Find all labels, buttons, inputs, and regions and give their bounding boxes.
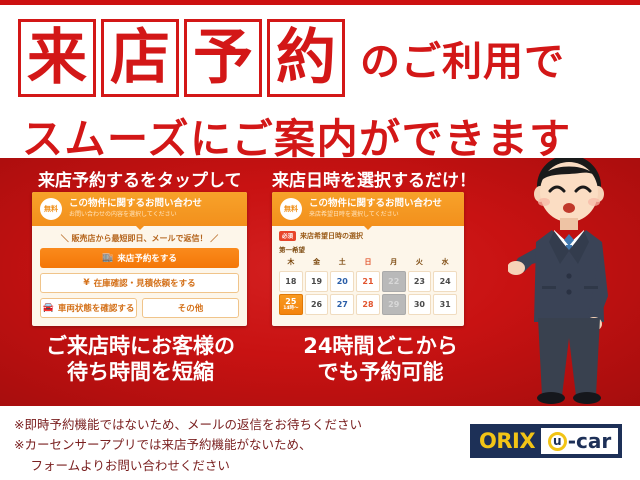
reserve-visit-button-label: 来店予約をする — [117, 252, 177, 264]
calendar-weekday-header: 月 — [382, 257, 406, 269]
vehicle-condition-button[interactable]: 🚘 車両状態を確認する — [40, 298, 137, 318]
calendar-day-cell: 29 — [382, 294, 406, 315]
calendar-day-number: 30 — [414, 300, 425, 309]
left-panel-title: 来店予約するをタップして — [38, 166, 242, 191]
calendar-day-number: 27 — [337, 300, 348, 309]
stock-quote-button-label: 在庫確認・見積依頼をする — [94, 277, 196, 289]
calendar-day-cell[interactable]: 18 — [279, 271, 303, 292]
headline-kanji-4: 約 — [276, 28, 336, 88]
calendar-day-number: 18 — [285, 277, 296, 286]
headline-kanji-box-2: 店 — [101, 19, 179, 97]
reserve-visit-button[interactable]: 🏬 来店予約をする — [40, 248, 239, 268]
calendar-weekday-header: 火 — [408, 257, 432, 269]
other-button-label: その他 — [178, 302, 204, 314]
calendar-day-number: 25 — [285, 297, 296, 306]
left-mock-button-list: 🏬 来店予約をする ¥ 在庫確認・見積依頼をする 🚘 車両状態を確認する その他 — [32, 248, 247, 325]
calendar-day-number: 22 — [388, 277, 399, 286]
calendar-day-number: 23 — [414, 277, 425, 286]
ucar-wordmark: u -car — [541, 428, 618, 454]
right-mock-header: 無料 この物件に関するお問い合わせ 来店希望日時を選択してください — [272, 192, 464, 226]
calendar-section-label: 来店希望日時の選択 — [300, 231, 363, 241]
left-caption: ご来店時にお客様の 待ち時間を短縮 — [18, 334, 263, 385]
u-letter: u — [553, 435, 562, 447]
headline-line-2: スムーズにご案内ができます — [22, 105, 622, 165]
left-mock-header: 無料 この物件に関するお問い合わせ お問い合わせの内容を選択してください — [32, 192, 247, 226]
calendar-weekday-header: 日 — [356, 257, 380, 269]
calendar-weekday-header: 金 — [305, 257, 329, 269]
car-icon: 🚘 — [43, 303, 54, 313]
calendar-day-number: 28 — [362, 300, 373, 309]
headline-kanji-box-3: 予 — [184, 19, 262, 97]
stock-quote-button[interactable]: ¥ 在庫確認・見積依頼をする — [40, 273, 239, 293]
required-tag: 必須 — [279, 231, 296, 241]
businessman-illustration — [508, 158, 630, 406]
calendar-day-cell[interactable]: 26 — [305, 294, 329, 315]
red-content-section: 来店予約するをタップして 来店日時を選択するだけ！ 無料 この物件に関するお問い… — [0, 158, 640, 406]
car-wordmark: -car — [568, 429, 612, 453]
calendar-weekday-header: 土 — [330, 257, 354, 269]
calendar-day-number: 19 — [311, 277, 322, 286]
calendar-day-cell[interactable]: 24 — [433, 271, 457, 292]
calendar-day-cell[interactable]: 28 — [356, 294, 380, 315]
calendar-day-cell[interactable]: 31 — [433, 294, 457, 315]
calendar-day-selected[interactable]: 2514時～ — [279, 294, 303, 315]
calendar-grid: 木金土日月火水181920212223242514時～262728293031 — [279, 257, 457, 315]
headline-line-1: 来 店 予 約 のご利用で — [18, 19, 565, 97]
headline-kanji-3: 予 — [193, 28, 253, 88]
calendar-day-cell[interactable]: 27 — [330, 294, 354, 315]
calendar-day-cell[interactable]: 30 — [408, 294, 432, 315]
u-circle-icon: u — [548, 432, 567, 451]
headline-kanji-2: 店 — [110, 28, 170, 88]
headline-kanji-1: 来 — [27, 28, 87, 88]
vehicle-condition-button-label: 車両状態を確認する — [58, 302, 135, 314]
left-mock-button-row: 🚘 車両状態を確認する その他 — [40, 298, 239, 318]
header-notch-icon — [135, 225, 145, 230]
headline-kanji-box-1: 来 — [18, 19, 96, 97]
advertisement-banner: 来 店 予 約 のご利用で スムーズにご案内ができます 来店予約するをタップして… — [0, 0, 640, 480]
calendar-day-time: 14時～ — [283, 307, 298, 312]
free-badge-right: 無料 — [280, 198, 302, 220]
headline-kanji-box-4: 約 — [267, 19, 345, 97]
right-mock-header-title: この物件に関するお問い合わせ — [309, 199, 442, 210]
header-notch-icon — [363, 225, 373, 230]
right-phone-mockup: 無料 この物件に関するお問い合わせ 来店希望日時を選択してください 必須 来店希… — [272, 192, 464, 326]
store-icon: 🏬 — [102, 253, 113, 263]
free-badge-right-label: 無料 — [284, 204, 298, 214]
calendar-day-cell[interactable]: 19 — [305, 271, 329, 292]
calendar-day-number: 26 — [311, 300, 322, 309]
calendar-day-number: 20 — [337, 277, 348, 286]
right-mock-header-subtitle: 来店希望日時を選択してください — [309, 211, 442, 219]
calendar-day-cell[interactable]: 23 — [408, 271, 432, 292]
calendar-label-row: 必須 来店希望日時の選択 — [279, 231, 457, 241]
calendar-day-number: 29 — [388, 300, 399, 309]
calendar-widget: 必須 来店希望日時の選択 第一希望 木金土日月火水181920212223242… — [272, 226, 464, 321]
calendar-weekday-header: 水 — [433, 257, 457, 269]
left-mock-header-subtitle: お問い合わせの内容を選択してください — [69, 211, 202, 219]
left-mock-header-title: この物件に関するお問い合わせ — [69, 199, 202, 210]
headline-block: 来 店 予 約 のご利用で スムーズにご案内ができます — [0, 5, 640, 158]
right-caption: 24時間どこから でも予約可能 — [268, 334, 493, 385]
other-button[interactable]: その他 — [142, 298, 239, 318]
calendar-day-number: 31 — [440, 300, 451, 309]
free-badge-left-label: 無料 — [44, 204, 58, 214]
calendar-day-cell[interactable]: 21 — [356, 271, 380, 292]
preference-label: 第一希望 — [279, 244, 457, 254]
right-panel-title: 来店日時を選択するだけ！ — [272, 166, 476, 191]
free-badge-left: 無料 — [40, 198, 62, 220]
calendar-day-number: 21 — [362, 277, 373, 286]
calendar-day-cell: 22 — [382, 271, 406, 292]
calendar-weekday-header: 木 — [279, 257, 303, 269]
disclaimer-text: ※即時予約機能ではないため、メールの返信をお待ちください ※カーセンサーアプリで… — [14, 415, 444, 476]
orix-wordmark: ORIX — [471, 429, 541, 453]
calendar-day-cell[interactable]: 20 — [330, 271, 354, 292]
calendar-day-number: 24 — [440, 277, 451, 286]
orix-ucar-logo: ORIX u -car — [470, 424, 622, 458]
left-phone-mockup: 無料 この物件に関するお問い合わせ お問い合わせの内容を選択してください ＼ 販… — [32, 192, 247, 326]
yen-icon: ¥ — [83, 278, 89, 288]
headline-tail-text: のご利用で — [360, 29, 565, 87]
